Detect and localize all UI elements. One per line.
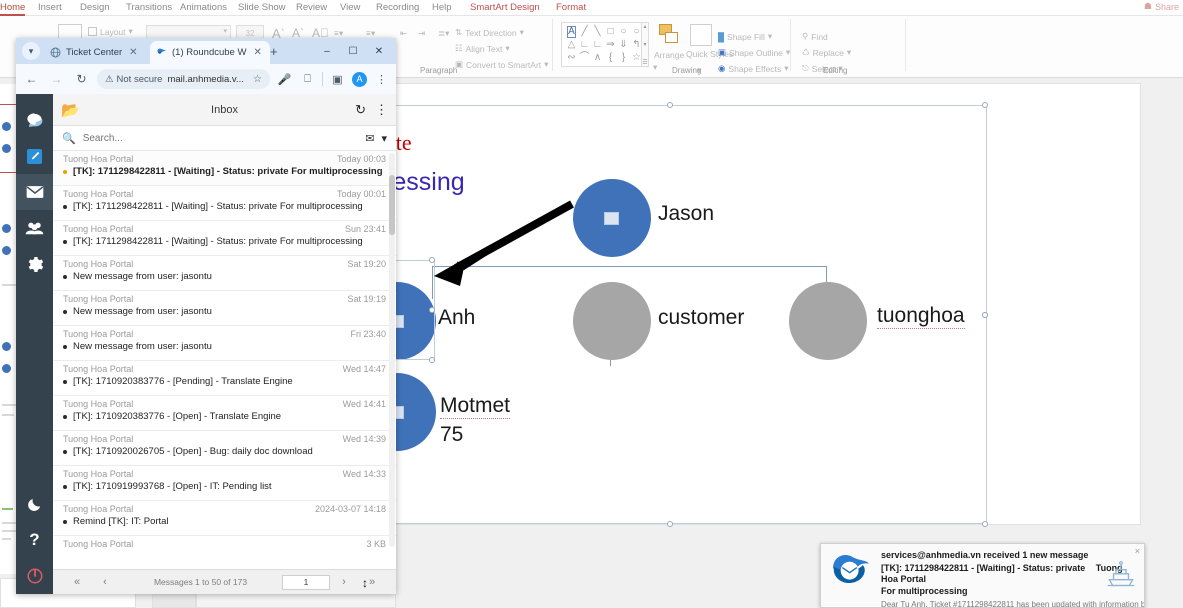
notification-subject-text: [TK]: 1711298422811 - [Waiting] - Status… — [881, 563, 1085, 573]
node-anh-handle-bottomright[interactable] — [429, 357, 435, 363]
shape-rounded-rect-icon[interactable]: ○ — [620, 27, 626, 37]
ship-icon — [1104, 558, 1138, 588]
replace-button[interactable]: ♺ Replace ▾ — [802, 47, 851, 58]
ribbon-tab-format[interactable]: Format — [556, 0, 586, 16]
message-list-item[interactable]: Tuong Hoa Portal Wed 14:33 [TK]: 1710919… — [53, 466, 396, 501]
message-subject: New message from user: jasontu — [73, 306, 212, 317]
shape-connector-icon[interactable]: ∧ — [594, 53, 601, 63]
message-date: Today 00:03 — [337, 154, 386, 164]
message-sender: Tuong Hoa Portal — [63, 504, 133, 514]
mail-envelope-icon — [25, 182, 45, 202]
shape-arrow-down-icon[interactable]: ⇓ — [619, 40, 627, 50]
warning-triangle-icon: ⚠ — [105, 74, 114, 85]
browser-window[interactable]: ▾ Ticket Center ✕ (1) Roundcube W ✕ + — [16, 38, 396, 594]
previous-page-button[interactable]: ‹ — [91, 576, 119, 588]
node-anh-handle-right[interactable] — [429, 307, 435, 313]
share-label: Share — [1155, 2, 1179, 12]
status-dot[interactable] — [63, 485, 67, 489]
chevron-down-icon: ▾ — [768, 31, 772, 42]
status-dot[interactable] — [63, 240, 67, 244]
shape-freeform-icon[interactable]: ∾ — [567, 53, 575, 63]
bg-text-line — [2, 538, 11, 540]
ribbon-tab-recording[interactable]: Recording — [376, 0, 419, 16]
node-customer-circle[interactable] — [573, 282, 651, 360]
tab-search-chevron-icon[interactable]: ▾ — [22, 42, 40, 60]
chevron-up-icon[interactable]: ▴ — [643, 23, 646, 30]
message-list[interactable]: Tuong Hoa Portal Today 00:03 [TK]: 17112… — [53, 151, 396, 569]
node-anh-label: Anh — [438, 306, 475, 330]
layout-icon — [88, 27, 97, 36]
message-sender: Tuong Hoa Portal — [63, 539, 133, 549]
shape-fill-icon: █ — [718, 32, 724, 42]
message-sender: Tuong Hoa Portal — [63, 364, 133, 374]
sidebar-item-help[interactable]: ? — [16, 522, 53, 558]
bg-node-dot — [2, 342, 11, 351]
sidebar-item-chat[interactable] — [16, 102, 53, 138]
bg-text-line — [2, 508, 13, 510]
not-secure-indicator[interactable]: ⚠ Not secure — [105, 74, 162, 85]
shape-star-icon[interactable]: ☆ — [632, 53, 641, 63]
chevron-down-icon: ▾ — [847, 47, 851, 58]
message-subject: New message from user: jasontu — [73, 341, 212, 352]
status-dot[interactable] — [63, 380, 67, 384]
mail-list-header: 📂 Inbox ↻ ⋮ — [53, 94, 396, 126]
message-size: 3 KB — [366, 539, 386, 549]
shape-textbox-icon[interactable]: A — [567, 26, 576, 38]
message-list-item[interactable]: Tuong Hoa Portal Sat 19:19 New message f… — [53, 291, 396, 326]
message-subject: [TK]: 1710919993768 - [Open] - IT: Pendi… — [73, 481, 272, 492]
ribbon-tab-animations[interactable]: Animations — [180, 0, 227, 16]
message-subject: [TK]: 1711298422811 - [Waiting] - Status… — [73, 201, 363, 212]
share-icon: ☗ — [1144, 1, 1152, 12]
replace-label: Replace — [813, 48, 844, 58]
search-icon: 🔍 — [62, 132, 76, 145]
node-jason-label: Jason — [658, 202, 714, 226]
close-window-button[interactable]: ✕ — [366, 41, 392, 62]
unread-flag-dot[interactable] — [63, 170, 67, 174]
envelope-icon[interactable]: ✉ — [365, 132, 374, 145]
globe-favicon-icon — [50, 47, 61, 58]
message-sender: Tuong Hoa Portal — [63, 399, 133, 409]
sidebar-item-compose[interactable] — [16, 138, 53, 174]
message-list-item[interactable]: Tuong Hoa Portal Wed 14:39 [TK]: 1710920… — [53, 431, 396, 466]
message-list-item[interactable]: Tuong Hoa Portal 2024-03-07 14:18 Remind… — [53, 501, 396, 536]
chevron-down-icon: ▾ — [520, 27, 524, 38]
align-text-icon: ☷ — [455, 43, 463, 54]
select-icon: ⎋ — [802, 63, 809, 74]
quick-styles-icon — [690, 24, 712, 46]
bg-node-dot — [2, 122, 11, 131]
resize-cursor: ↕ — [362, 576, 368, 590]
shape-gallery[interactable]: A ╱ ╲ □ ○ ○ △ ∟ ∟ ⇒ ⇓ ↰ ∾ ⌒ ∧ { } ☆ — [561, 22, 647, 67]
shape-arc-icon[interactable]: ⌒ — [580, 53, 590, 63]
find-label: Find — [811, 32, 828, 42]
bg-node-dot — [2, 246, 11, 255]
shape-line2-icon[interactable]: ╲ — [594, 27, 600, 37]
profile-avatar[interactable]: A — [352, 72, 367, 87]
search-icon: ⚲ — [802, 31, 808, 42]
ribbon-tab-help[interactable]: Help — [432, 0, 452, 16]
bg-text-line — [2, 404, 16, 406]
bg-text-line — [2, 414, 14, 416]
refresh-icon[interactable]: ↻ — [355, 102, 366, 118]
notification-toast[interactable]: services@anhmedia.vn received 1 new mess… — [820, 543, 1145, 608]
chevron-down-icon: ▾ — [505, 43, 509, 54]
page-number-input[interactable] — [282, 575, 330, 590]
message-list-item[interactable]: Tuong Hoa Portal 3 KB — [53, 536, 396, 569]
browser-tab-strip: ▾ Ticket Center ✕ (1) Roundcube W ✕ + — [16, 38, 396, 64]
group-label-editing: Editing — [823, 66, 847, 75]
text-direction-label: Text Direction — [465, 28, 517, 38]
message-list-item[interactable]: Tuong Hoa Portal Wed 14:41 [TK]: 1710920… — [53, 396, 396, 431]
settings-gear-icon — [25, 255, 44, 274]
url-text: mail.anhmedia.v... — [167, 74, 243, 85]
slide-surface[interactable]: ate ocessing Jason Anh — [396, 84, 1140, 524]
thunderbird-icon — [829, 550, 873, 594]
message-list-item[interactable]: Tuong Hoa Portal Today 00:01 [TK]: 17112… — [53, 186, 396, 221]
shape-triangle-icon[interactable]: △ — [568, 40, 576, 50]
next-page-button[interactable]: › — [330, 576, 358, 588]
quick-styles-label: Quick Styles — [686, 49, 708, 59]
ribbon-divider-2 — [790, 19, 791, 71]
toolbar-divider — [322, 72, 323, 86]
bg-text-line — [2, 522, 17, 524]
status-dot[interactable] — [63, 345, 67, 349]
close-icon[interactable]: ✕ — [129, 47, 137, 58]
bg-node-dot — [2, 224, 11, 233]
chevron-down-icon: ▾ — [223, 27, 227, 35]
status-dot[interactable] — [63, 415, 67, 419]
browser-tab-title: Ticket Center — [66, 47, 122, 58]
notification-preview: Dear Tu Anh, Ticket #1711298422811 has b… — [881, 600, 1136, 608]
resize-handle-right-dup[interactable] — [982, 312, 988, 318]
close-icon[interactable]: ✕ — [253, 47, 261, 58]
microphone-icon[interactable]: 🎤 — [276, 71, 293, 88]
message-sender: Tuong Hoa Portal — [63, 469, 133, 479]
folder-open-icon[interactable]: 📂 — [61, 101, 80, 119]
browser-tab-roundcube[interactable]: (1) Roundcube W ✕ — [150, 41, 270, 64]
shape-effects-label: Shape Effects — [728, 64, 781, 74]
bg-node-dot — [2, 144, 11, 153]
roundcube-sidebar: ? — [16, 94, 53, 594]
ribbon-tab-home[interactable]: Home — [0, 0, 25, 16]
message-sender: Tuong Hoa Portal — [63, 259, 133, 269]
quick-styles-button[interactable]: Quick Styles — [686, 49, 708, 59]
sidebar-item-mail[interactable] — [16, 174, 53, 210]
group-label-paragraph: Paragraph — [420, 66, 457, 75]
status-dot[interactable] — [63, 205, 67, 209]
pager-info: Messages 1 to 50 of 173 — [119, 577, 282, 587]
annotation-arrow — [420, 200, 580, 295]
message-list-item[interactable]: Tuong Hoa Portal Fri 23:40 New message f… — [53, 326, 396, 361]
new-tab-button[interactable]: + — [270, 44, 278, 59]
group-label-drawing: Drawing — [672, 66, 701, 75]
message-subject: Remind [TK]: IT: Portal — [73, 516, 169, 527]
message-subject: [TK]: 1711298422811 - [Waiting] - Status… — [73, 236, 363, 247]
text-direction-button[interactable]: ⇅ Text Direction ▾ — [455, 27, 524, 38]
align-text-label: Align Text — [466, 44, 503, 54]
power-logout-icon — [26, 567, 44, 585]
node-customer-label: customer — [658, 306, 744, 330]
line-spacing-button[interactable]: ≣▾ — [438, 28, 449, 39]
chevron-down-icon[interactable]: ▾ — [643, 41, 646, 48]
chat-bubble-icon — [25, 111, 44, 130]
mail-list-pane: 📂 Inbox ↻ ⋮ 🔍 ✉ ▾ Tuong — [53, 94, 396, 594]
shape-left-brace-icon[interactable]: { — [609, 53, 612, 63]
resize-handle-bottom-right[interactable] — [982, 521, 988, 527]
shape-gallery-scrollbar[interactable]: ▴ ▾ ☰ — [641, 22, 649, 67]
ribbon-divider — [552, 19, 553, 71]
browser-toolbar: ← → ↻ ⚠ Not secure mail.anhmedia.v... ☆ … — [16, 64, 396, 94]
shape-effects-icon: ◉ — [718, 63, 725, 74]
shape-elbow2-icon[interactable]: ∟ — [593, 40, 603, 50]
message-date: Sat 19:19 — [347, 294, 386, 304]
shape-curve-icon[interactable]: ↰ — [632, 40, 640, 50]
mailbox-title: Inbox — [53, 104, 396, 116]
sidebar-item-settings[interactable] — [16, 246, 53, 282]
layout-label: Layout — [100, 27, 126, 37]
arrange-label: Arrange — [654, 50, 684, 60]
bg-text-line — [2, 284, 16, 286]
not-secure-label: Not secure — [117, 74, 163, 85]
message-sender: Tuong Hoa Portal — [63, 224, 133, 234]
message-date: Fri 23:40 — [350, 329, 386, 339]
search-input[interactable] — [83, 133, 359, 144]
shape-right-brace-icon[interactable]: } — [622, 53, 625, 63]
shape-rect-icon[interactable]: □ — [607, 27, 613, 37]
address-bar[interactable]: ⚠ Not secure mail.anhmedia.v... ☆ — [97, 69, 270, 89]
status-dot[interactable] — [63, 450, 67, 454]
node-tuonghoa-circle[interactable] — [789, 282, 867, 360]
resize-handle-bottom[interactable] — [667, 521, 673, 527]
bg-node-dot — [2, 364, 11, 373]
text-direction-icon: ⇅ — [455, 27, 462, 38]
node-tuonghoa-label: tuonghoa — [877, 304, 965, 329]
increase-indent-button[interactable]: ⇥ — [418, 28, 425, 39]
message-subject: [TK]: 1710920026705 - [Open] - Bug: dail… — [73, 446, 313, 457]
message-list-item[interactable]: Tuong Hoa Portal Sun 23:41 [TK]: 1711298… — [53, 221, 396, 256]
message-subject: [TK]: 1711298422811 - [Waiting] - Status… — [73, 166, 383, 177]
shape-elbow-icon[interactable]: ∟ — [580, 40, 590, 50]
convert-to-smartart-button[interactable]: ▣ Convert to SmartArt ▾ — [455, 59, 548, 70]
message-date: Wed 14:47 — [343, 364, 386, 374]
status-dot[interactable] — [63, 275, 67, 279]
chevron-down-icon[interactable]: ▾ — [653, 62, 657, 73]
arrange-icon-back — [665, 32, 678, 43]
message-date: 2024-03-07 14:18 — [315, 504, 386, 514]
ribbon-tab-review[interactable]: Review — [296, 0, 327, 16]
ribbon-tab-view[interactable]: View — [340, 0, 360, 16]
bookmark-star-icon[interactable]: ☆ — [253, 74, 262, 85]
align-text-button[interactable]: ☷ Align Text ▾ — [455, 43, 510, 54]
ribbon-tab-insert[interactable]: Insert — [38, 0, 62, 16]
forward-icon[interactable]: → — [47, 70, 66, 89]
shape-oval-icon[interactable]: ○ — [633, 27, 639, 37]
message-list-item[interactable]: Tuong Hoa Portal Sat 19:20 New message f… — [53, 256, 396, 291]
shape-line-icon[interactable]: ╱ — [581, 27, 587, 37]
node-motmet-label: Motmet — [440, 394, 510, 419]
message-date: Sat 19:20 — [347, 259, 386, 269]
decrease-indent-button[interactable]: ⇤ — [400, 28, 407, 39]
ribbon-tab-smartart-design[interactable]: SmartArt Design — [470, 0, 540, 16]
sidebar-item-dark-mode[interactable] — [16, 486, 53, 522]
message-date: Today 00:01 — [337, 189, 386, 199]
message-sender: Tuong Hoa Portal — [63, 189, 133, 199]
reload-icon[interactable]: ↻ — [72, 70, 91, 89]
bg-text-line — [2, 530, 17, 532]
message-sender: Tuong Hoa Portal — [63, 154, 133, 164]
thunderbird-favicon-icon — [156, 47, 167, 58]
message-sender: Tuong Hoa Portal — [63, 329, 133, 339]
convert-to-smartart-label: Convert to SmartArt — [466, 60, 541, 70]
find-button[interactable]: ⚲ Find — [802, 31, 828, 42]
chevron-down-icon: ▾ — [544, 59, 548, 70]
resize-handle-top[interactable] — [667, 102, 673, 108]
node-motmet-sublabel: 75 — [440, 423, 463, 447]
status-dot[interactable] — [63, 310, 67, 314]
browser-tab-title: (1) Roundcube W — [172, 47, 246, 58]
ribbon-tab-transitions[interactable]: Transitions — [126, 0, 172, 16]
notification-subject: [TK]: 1711298422811 - [Waiting] - Status… — [881, 563, 1136, 597]
layout-button[interactable]: Layout ▾ — [88, 26, 133, 37]
mail-list-header-actions: ↻ ⋮ — [355, 102, 388, 118]
maximize-button[interactable]: ☐ — [340, 41, 366, 62]
message-list-scrollbar[interactable] — [389, 153, 395, 547]
shape-outline-icon: ▣ — [718, 47, 726, 58]
notification-body: services@anhmedia.vn received 1 new mess… — [881, 550, 1136, 601]
message-date: Sun 23:41 — [345, 224, 386, 234]
message-date: Wed 14:39 — [343, 434, 386, 444]
ribbon-tab-slide-show[interactable]: Slide Show — [238, 0, 286, 16]
message-list-item[interactable]: Tuong Hoa Portal Today 00:03 [TK]: 17112… — [53, 151, 396, 186]
chevron-down-icon: ▾ — [129, 26, 133, 37]
moon-dark-mode-icon — [26, 496, 43, 513]
more-vertical-icon[interactable]: ⋮ — [375, 102, 388, 118]
search-bar[interactable]: 🔍 ✉ ▾ — [53, 126, 396, 151]
message-sender: Tuong Hoa Portal — [63, 434, 133, 444]
ribbon-divider-3 — [905, 19, 906, 71]
message-list-pager: « ‹ Messages 1 to 50 of 173 › » — [53, 569, 396, 594]
message-subject: New message from user: jasontu — [73, 271, 212, 282]
compose-pencil-icon — [25, 147, 44, 166]
window-controls: – ☐ ✕ — [314, 41, 392, 62]
replace-icon: ♺ — [802, 47, 810, 58]
sidebar-item-logout[interactable] — [16, 558, 53, 594]
minimize-button[interactable]: – — [314, 41, 340, 62]
message-date: Wed 14:41 — [343, 399, 386, 409]
roundcube-app: ? 📂 Inbox ↻ ⋮ — [16, 94, 396, 594]
share-button[interactable]: ☗ Share — [1144, 1, 1179, 12]
shape-outline-label: Shape Outline — [729, 48, 783, 58]
more-vertical-icon[interactable]: ⋮ — [373, 71, 390, 88]
extensions-icon[interactable]: ⎕ — [299, 71, 316, 88]
status-dot[interactable] — [63, 520, 67, 524]
chevron-down-icon: ▾ — [784, 63, 788, 74]
message-list-item[interactable]: Tuong Hoa Portal Wed 14:47 [TK]: 1710920… — [53, 361, 396, 396]
side-panel-icon[interactable]: ▣ — [329, 71, 346, 88]
back-icon[interactable]: ← — [22, 70, 41, 89]
shape-outline-button[interactable]: ▣ Shape Outline ▾ — [718, 47, 790, 58]
scrollbar-thumb[interactable] — [389, 175, 395, 235]
more-shapes-icon[interactable]: ☰ — [642, 59, 647, 66]
contacts-people-icon — [24, 218, 45, 239]
message-sender: Tuong Hoa Portal — [63, 294, 133, 304]
message-subject: [TK]: 1710920383776 - [Pending] - Transl… — [73, 376, 293, 387]
first-page-button[interactable]: « — [63, 576, 91, 588]
ribbon-tab-bar: Home Insert Design Transitions Animation… — [0, 0, 1183, 16]
shape-effects-button[interactable]: ◉ Shape Effects ▾ — [718, 63, 788, 74]
notification-title: services@anhmedia.vn received 1 new mess… — [881, 550, 1136, 560]
shape-arrow-right-icon[interactable]: ⇒ — [606, 40, 614, 50]
message-date: Wed 14:33 — [343, 469, 386, 479]
sidebar-item-contacts[interactable] — [16, 210, 53, 246]
message-subject: [TK]: 1710920383776 - [Open] - Translate… — [73, 411, 281, 422]
node-jason-picture-placeholder — [604, 212, 619, 225]
arrange-button[interactable]: Arrange — [654, 50, 684, 60]
shape-fill-button[interactable]: █ Shape Fill ▾ — [718, 31, 772, 42]
resize-handle-top-right[interactable] — [982, 102, 988, 108]
ribbon-tab-design[interactable]: Design — [80, 0, 110, 16]
close-notification-button[interactable]: × — [1135, 546, 1140, 556]
chevron-down-icon[interactable]: ▾ — [381, 132, 387, 145]
shape-fill-label: Shape Fill — [727, 32, 765, 42]
notification-subject-line2: For multiprocessing — [881, 586, 1136, 597]
